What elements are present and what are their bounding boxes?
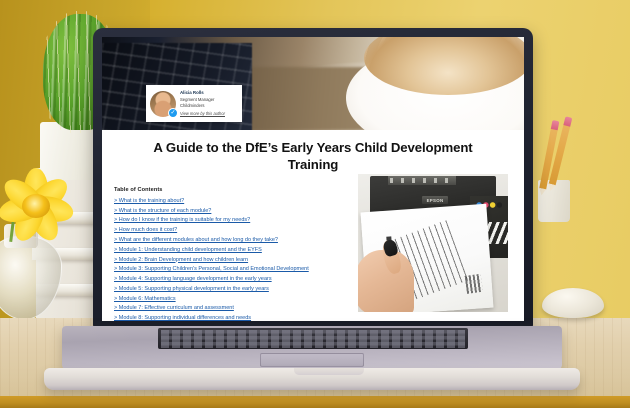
hero-banner-image: ✓ Alicia Rolls Segment Manager Childmind… [102,37,524,130]
laptop-trackpad[interactable] [260,353,364,367]
toc-link[interactable]: > What is the structure of each module? [114,207,362,217]
toc-link[interactable]: > What are the different modules about a… [114,236,362,246]
laptop-screen: ✓ Alicia Rolls Segment Manager Childmind… [102,37,524,321]
author-name: Alicia Rolls [180,90,225,97]
verified-badge-icon: ✓ [168,108,178,118]
toc-link[interactable]: > How much does it cost? [114,226,362,236]
keyboard-keys [161,330,465,348]
laptop-keyboard[interactable] [158,328,468,349]
view-more-by-author-link[interactable]: View more by this author [180,111,225,117]
author-role-line-2: Childminders [180,103,225,109]
toc-link[interactable]: > Module 3: Supporting Children's Person… [114,265,358,275]
printer-brand-label: EPSON [422,196,448,204]
article-body: A Guide to the DfE’s Early Years Child D… [102,130,524,321]
page-title: A Guide to the DfE’s Early Years Child D… [102,130,524,174]
toc-link[interactable]: > What is the training about? [114,197,362,207]
flower-center [22,194,50,218]
printer-photo: EPSON [358,174,508,312]
table-of-contents-list: > What is the training about? > What is … [114,197,362,321]
toc-link[interactable]: > Module 8: Supporting individual differ… [114,314,362,321]
toc-link[interactable]: > How do I know if the training is suita… [114,216,362,226]
avatar-wrap: ✓ [150,91,176,117]
toc-link[interactable]: > Module 4: Supporting language developm… [114,275,362,285]
author-meta: Alicia Rolls Segment Manager Childminder… [180,90,225,116]
printer-panel-icons [390,178,450,183]
author-card[interactable]: ✓ Alicia Rolls Segment Manager Childmind… [146,85,242,122]
toc-link[interactable]: > Module 2: Brain Development and how ch… [114,256,362,266]
toc-link[interactable]: > Module 7: Effective curriculum and ass… [114,304,362,314]
printed-page-logo [465,274,483,294]
laptop-base-notch [294,368,364,375]
toc-link[interactable]: > Module 1: Understanding child developm… [114,246,362,256]
desk-edge [0,396,630,408]
laptop-lid: ✓ Alicia Rolls Segment Manager Childmind… [93,28,533,328]
toc-link[interactable]: > Module 5: Supporting physical developm… [114,285,362,295]
toc-link[interactable]: > Module 6: Mathematics [114,295,362,305]
laptop-mockup: ✓ Alicia Rolls Segment Manager Childmind… [62,28,562,388]
